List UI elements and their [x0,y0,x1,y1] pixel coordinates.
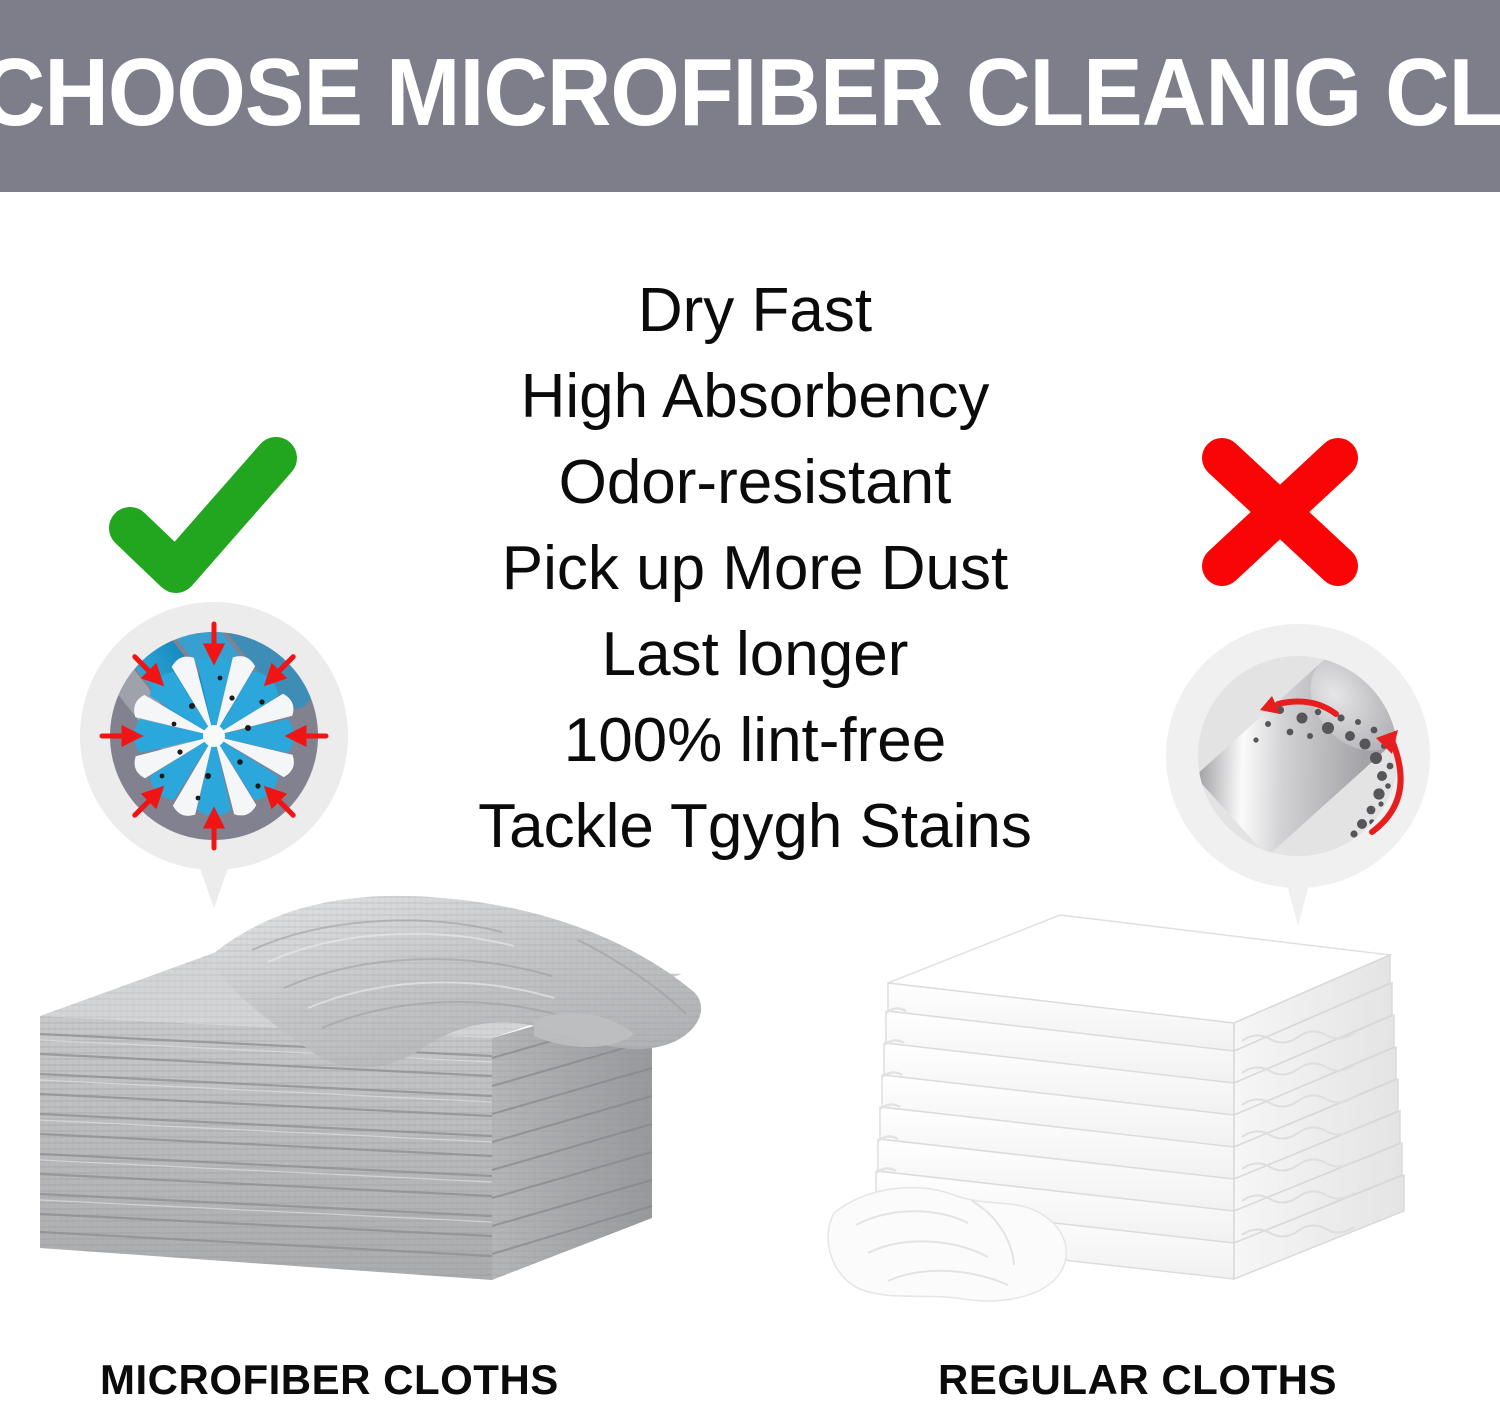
green-check-icon [108,440,298,600]
callout-regular-fiber [1160,618,1436,938]
red-cross-icon [1190,432,1380,592]
microfiber-cloth-stack-image [22,888,722,1318]
feature-item: Tackle Tgygh Stains [380,784,1130,870]
feature-item: Pick up More Dust [380,526,1130,612]
feature-item: Dry Fast [380,268,1130,354]
caption-microfiber-cloths: MICROFIBER CLOTHS [100,1356,559,1404]
callout-microfiber-fiber [76,598,352,918]
feature-item: 100% lint-free [380,698,1130,784]
feature-item: High Absorbency [380,354,1130,440]
page-title: WHY CHOOSE MICROFIBER CLEANIG CLOTHS [0,45,1500,147]
feature-list: Dry Fast High Absorbency Odor-resistant … [380,268,1130,870]
feature-item: Odor-resistant [380,440,1130,526]
infographic-page: WHY CHOOSE MICROFIBER CLEANIG CLOTHS [0,0,1500,1411]
header-bar: WHY CHOOSE MICROFIBER CLEANIG CLOTHS [0,0,1500,192]
regular-cloth-stack-image [830,895,1480,1315]
caption-regular-cloths: REGULAR CLOTHS [938,1356,1337,1404]
feature-item: Last longer [380,612,1130,698]
